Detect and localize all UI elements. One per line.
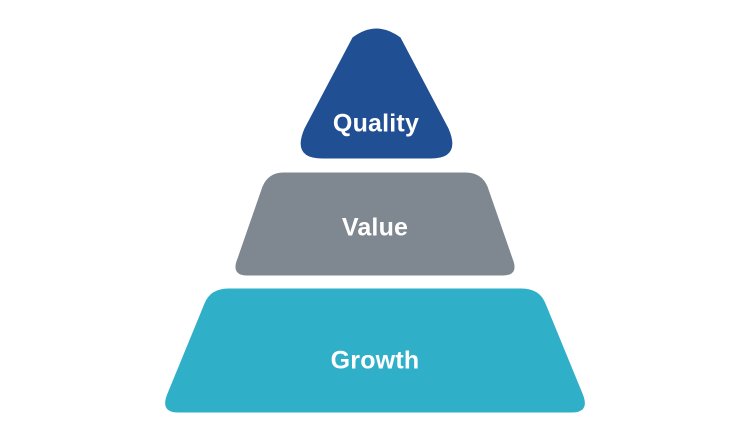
pyramid-diagram: Quality Value Growth: [0, 0, 748, 440]
quality-label: Quality: [333, 110, 419, 138]
pyramid-chart: Quality Value Growth: [0, 0, 748, 440]
growth-label: Growth: [331, 347, 420, 375]
pyramid-tier-value[interactable]: Value: [235, 173, 514, 276]
quality-shape[interactable]: [301, 29, 453, 159]
value-label: Value: [342, 214, 408, 242]
pyramid-tier-quality[interactable]: Quality: [301, 29, 453, 159]
pyramid-tier-growth[interactable]: Growth: [165, 289, 585, 413]
